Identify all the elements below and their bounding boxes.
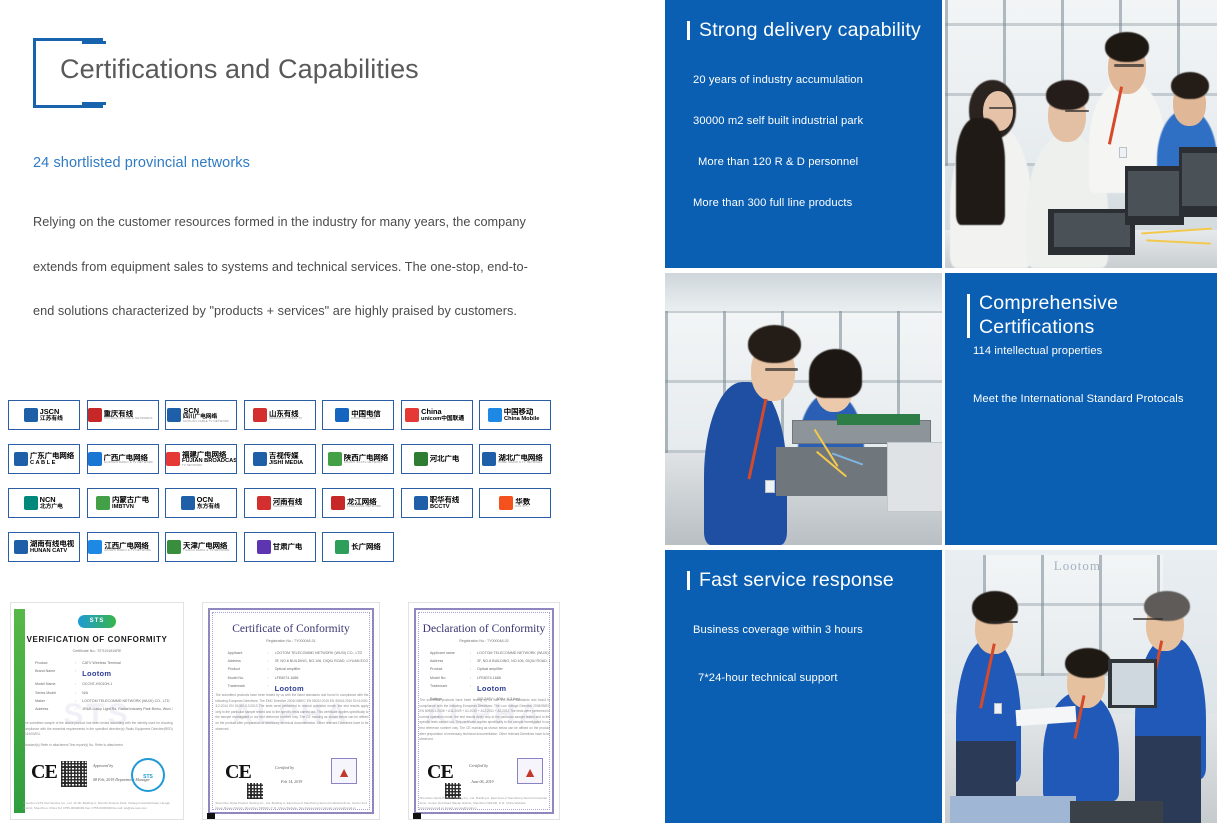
logo-subtext: JIANGXI RADIO & TV NETWORK — [104, 549, 151, 552]
left-content-column: Certifications and Capabilities 24 short… — [0, 0, 660, 823]
logo-wordmark: 职华有线BCCTV — [430, 496, 460, 510]
certificate-field-row: Brand Name:Lootom — [35, 669, 173, 678]
logo-mark-icon — [24, 496, 38, 510]
certificate-field-colon: : — [470, 651, 477, 655]
logo-subtext: HUA SHU — [515, 505, 529, 508]
certificate-field-row: Trademark:Lootom — [430, 684, 550, 693]
logo-wordmark: 长广网络 — [351, 543, 381, 550]
logo-subtext: TIANJIN RADIO & TV NETWORK — [183, 549, 230, 552]
logo-mark-icon — [167, 540, 181, 554]
person-hair — [748, 325, 801, 363]
certificate-title: Certificate of Conformity — [203, 623, 379, 635]
panel-heading: Fast service response — [687, 568, 928, 592]
logo-mark-icon — [181, 496, 195, 510]
panel-heading: Strong delivery capability — [687, 18, 928, 42]
certificate-field-value: Lootom — [275, 684, 369, 693]
logo-wordmark: 山东有线SHANDONG CABLE TV — [269, 410, 306, 421]
logo-mark-icon — [488, 408, 502, 422]
panel-bullet: More than 300 full line products — [693, 197, 926, 209]
panel-strong-delivery-capability: Strong delivery capability 20 years of i… — [665, 0, 942, 268]
logo-wordmark: 福建广电网络FUJIAN BROADCASTTV NETWORK — [182, 451, 236, 468]
logo-hebei-broadcast-tv[interactable]: 河北广电 — [401, 444, 473, 474]
certificate-registration: Registration No.: TY000048-01 — [203, 639, 379, 643]
certificate-paragraph: The submitted products have been tested … — [215, 693, 368, 732]
logo-china-mobile[interactable]: 中国移动China Mobile — [479, 400, 551, 430]
certificate-field-key: Model Name — [35, 682, 75, 686]
certificate-field-colon: : — [470, 684, 477, 693]
certificate-field-value: LFE8074-1688 — [477, 676, 550, 680]
laptop — [1048, 209, 1135, 255]
certificate-card-conformity[interactable]: ALPHA Certificate of Conformity Registra… — [202, 602, 380, 820]
certificate-field-colon: : — [268, 684, 275, 693]
logo-mark-icon — [14, 452, 28, 466]
logo-wordmark: NCN北方广电 — [40, 496, 65, 510]
certificate-field-colon: : — [268, 659, 275, 663]
certificate-field-value: 3F, NO.8 BUILDING, NO.106, DIQIU ROAD, L… — [275, 659, 369, 663]
logo-mark-icon — [96, 496, 110, 510]
certificate-field-list: Product:CATV Wireless TerminalBrand Name… — [35, 661, 173, 715]
logo-henan-cable[interactable]: 河南有线HENAN CABLE — [244, 488, 316, 518]
certificate-card-declaration[interactable]: ALPHA Declaration of Conformity Registra… — [408, 602, 560, 820]
logo-line-2: China Mobile — [504, 416, 539, 422]
panel-bullet: Business coverage within 3 hours — [693, 624, 926, 636]
logo-subtext: HENAN CABLE — [273, 505, 300, 508]
certificate-note: Standard(s) Refer to attachment Test rep… — [23, 743, 173, 749]
certificate-field-row: Address:1R&B Lucky Light Rd, Radial Indu… — [35, 707, 173, 711]
desk-tray — [1070, 801, 1162, 823]
certificate-field-key: Trademark — [228, 684, 268, 693]
logo-ncn-north-broadcast[interactable]: NCN北方广电 — [8, 488, 80, 518]
certificate-field-colon: : — [268, 667, 275, 671]
logo-mark-icon — [166, 452, 180, 466]
page-title-block: Certifications and Capabilities — [33, 38, 553, 110]
certificate-title: Declaration of Conformity — [409, 623, 559, 635]
logo-huashu-media[interactable]: 华数HUA SHU — [479, 488, 551, 518]
logo-guangxi-broadcast-network[interactable]: 广西广电网络GUANGXI RADIO & TV NETWORK — [87, 444, 159, 474]
certificate-field-colon: : — [268, 651, 275, 655]
certificate-field-colon: : — [75, 699, 82, 703]
logo-mark-icon — [331, 496, 345, 510]
logo-wordmark: 龙江网络LONGJIANG NETWORK — [347, 498, 385, 509]
logo-subtext: LONGJIANG NETWORK — [347, 505, 381, 508]
glasses-icon — [1065, 110, 1089, 112]
section-subheading: 24 shortlisted provincial networks — [33, 155, 250, 171]
certificate-field-value: Lootom — [82, 669, 173, 678]
certificate-field-colon: : — [75, 682, 82, 686]
photo-assembly-inspection — [665, 273, 942, 545]
signature-label: Certified by — [469, 763, 488, 768]
logo-mark-icon — [414, 452, 428, 466]
logo-mark-icon — [167, 408, 181, 422]
certificate-field-colon: : — [470, 667, 477, 671]
certificate-field-value: LOOTOM TELECOMMD NETWORK (WUXI) CO., LTD — [477, 651, 550, 655]
certificate-field-row: Trademark:Lootom — [228, 684, 369, 693]
certificate-field-row: Address:3F, NO.8 BUILDING, NO.106, DIQIU… — [228, 659, 369, 663]
logo-subtext: SHANDONG CABLE TV — [269, 417, 302, 420]
logo-wordmark: 内蒙古广电IMBTVN — [112, 496, 149, 510]
circuit-board — [837, 414, 920, 425]
logo-wordmark: 湖北广电网络HUBEI RADIO & TV NETWORK — [498, 454, 547, 465]
page-title: Certifications and Capabilities — [60, 54, 419, 85]
certificate-field-key: Product — [228, 667, 268, 671]
panel-bullet-list: 114 intellectual propertiesMeet the Inte… — [973, 345, 1201, 441]
logo-fujian-broadcast-tv[interactable]: 福建广电网络FUJIAN BROADCASTTV NETWORK — [165, 444, 237, 474]
logo-hubei-broadcast-network[interactable]: 湖北广电网络HUBEI RADIO & TV NETWORK — [479, 444, 551, 474]
panel-bullet: 30000 m2 self built industrial park — [693, 115, 926, 127]
certificate-field-value: CATV Wireless Terminal — [82, 661, 173, 665]
certificate-field-value: LFE8074-1688 — [275, 676, 369, 680]
logo-wordmark: 中国电信CHINA TELECOM — [351, 410, 381, 421]
logo-mark-icon — [88, 540, 102, 554]
signature-label: Approved by — [93, 763, 113, 768]
logo-ocn-oriental-cable[interactable]: OCN东方有线 — [165, 488, 237, 518]
logo-wordmark: 广西广电网络GUANGXI RADIO & TV NETWORK — [104, 454, 158, 465]
logo-wordmark: 河南有线HENAN CABLE — [273, 498, 303, 509]
logo-hunan-catv[interactable]: 湖南有线电视HUNAN CATV — [8, 532, 80, 562]
certificate-field-row: Product:Optical amplifier — [228, 667, 369, 671]
section-paragraph: Relying on the customer resources formed… — [33, 200, 533, 334]
logo-line-2: C A B L E — [30, 460, 71, 466]
logo-wordmark: Chinaunicom中国联通 — [421, 408, 468, 422]
certificate-footer: Shenzhen Alpha Product Testing Co., Ltd.… — [215, 801, 368, 811]
logo-mark-icon — [335, 408, 349, 422]
logo-wordmark: 中国移动China Mobile — [504, 408, 543, 422]
logo-mark-icon — [328, 452, 342, 466]
certificate-field-colon: : — [470, 659, 477, 663]
logo-guangdong-cable[interactable]: 广东广电网络C A B L E — [8, 444, 80, 474]
certificate-field-value: LOOTOM TELECOMMD NETWORK (WUXI) CO., LTD — [82, 699, 173, 703]
certificate-footer: Shenzhen Alpha Product Testing Co., Ltd.… — [420, 796, 551, 811]
certificate-field-key: Address — [35, 707, 75, 711]
certificate-field-value: 3F, NO.8 BUILDING, NO.106, DIQIU ROAD, L… — [477, 659, 550, 663]
person-hair — [1065, 648, 1111, 678]
logo-line-2: unicom中国联通 — [421, 416, 464, 422]
logo-longjiang-network[interactable]: 龙江网络LONGJIANG NETWORK — [322, 488, 394, 518]
certificate-field-key: Address — [430, 659, 470, 663]
certificate-field-key: Model No. — [228, 676, 268, 680]
qr-code — [61, 761, 87, 787]
certificate-seal: ▲ — [517, 758, 543, 784]
logo-wordmark: 江西广电网络JIANGXI RADIO & TV NETWORK — [104, 542, 156, 553]
laptop — [1125, 166, 1185, 225]
certificate-paragraph: The submitted products have been testing… — [420, 698, 551, 743]
logo-mark-icon — [499, 496, 513, 510]
logo-mark-icon — [257, 540, 271, 554]
certificate-field-value: 1R&B Lucky Light Rd, Radial Industry Par… — [82, 707, 173, 711]
person-hair — [1046, 80, 1090, 109]
certificate-field-value: Optical amplifier — [477, 667, 550, 671]
certificate-field-key: Trademark — [430, 684, 470, 693]
certificate-field-row: Series Model:N/A — [35, 691, 173, 695]
logo-mark-icon — [335, 540, 349, 554]
certificate-field-row: Model No.:LFE8074-1688 — [228, 676, 369, 680]
certificate-field-value: N/A — [82, 691, 173, 695]
logo-wordmark: 华数HUA SHU — [515, 498, 530, 509]
glasses-icon — [765, 368, 798, 371]
logo-mark-icon — [482, 452, 496, 466]
logo-mark-icon — [253, 408, 267, 422]
certificate-field-value: Optical amplifier — [275, 667, 369, 671]
photo-team-discussion-office: Lootom — [945, 550, 1217, 823]
certificate-field-row: Product:CATV Wireless Terminal — [35, 661, 173, 665]
person-hair — [1105, 32, 1149, 61]
certificate-field-key: Model No. — [430, 676, 470, 680]
certificate-field-value: OCCNT-H2010H-1 — [82, 682, 173, 686]
certificate-registration: Certificate No.: STS191816RE — [11, 649, 183, 653]
laptop — [1179, 147, 1217, 217]
panel-heading: Comprehensive Certifications — [967, 291, 1203, 340]
logo-changguang-network[interactable]: 长广网络 — [322, 532, 394, 562]
panel-fast-service-response: Fast service response Business coverage … — [665, 550, 942, 823]
equipment-case — [887, 442, 942, 513]
logo-subtext: SICHUAN CABLE TV NETWORK — [183, 420, 229, 423]
logo-line-2: 北方广电 — [40, 504, 63, 510]
glasses-icon — [989, 107, 1013, 109]
page-corner-tab — [207, 813, 215, 820]
panel-comprehensive-certifications: Comprehensive Certifications 114 intelle… — [945, 273, 1217, 545]
panel-bullet-list: 20 years of industry accumulation30000 m… — [693, 74, 926, 238]
panel-bullet: 7*24-hour technical support — [698, 672, 926, 684]
ceiling-lights — [665, 273, 942, 317]
logo-mark-icon — [14, 540, 28, 554]
panel-bullet: More than 120 R & D personnel — [698, 156, 926, 168]
id-badge — [994, 703, 1002, 714]
signature-date: Feb 14, 2019 — [281, 779, 302, 784]
logo-gansu-broadcast-tv[interactable]: 甘肃广电 — [244, 532, 316, 562]
page-corner-tab — [413, 813, 421, 820]
logo-line-2: IMBTVN — [112, 504, 146, 510]
logo-mark-icon — [24, 408, 38, 422]
logo-mark-icon — [88, 452, 102, 466]
certificate-title: VERIFICATION OF CONFORMITY — [11, 635, 183, 644]
stacked-folders — [950, 796, 1075, 823]
certificate-field-row: Model No.:LFE8074-1688 — [430, 676, 550, 680]
logo-scn-sichuan-broadcast[interactable]: SCN四川广电网络SICHUAN CABLE TV NETWORK — [165, 400, 237, 430]
certificate-seal: STS — [131, 758, 165, 792]
logo-wordmark: SCN四川广电网络SICHUAN CABLE TV NETWORK — [183, 407, 234, 424]
certificate-seal: ▲ — [331, 758, 357, 784]
certificate-field-key: Applicant name — [430, 651, 470, 655]
logo-jiangxi-broadcast-network[interactable]: 江西广电网络JIANGXI RADIO & TV NETWORK — [87, 532, 159, 562]
logo-bccetv-juhua-cable[interactable]: 职华有线BCCTV — [401, 488, 473, 518]
certificate-field-row: Applicant name:LOOTOM TELECOMMD NETWORK … — [430, 651, 550, 655]
right-feature-grid: Strong delivery capability 20 years of i… — [665, 0, 1217, 823]
signature-label: Certified by — [275, 765, 294, 770]
certificate-gallery: Certificate · 认证证书 · Certificado · Серти… — [10, 602, 570, 820]
logo-subtext: CHINA TELECOM — [351, 417, 378, 420]
sts-logo: STS — [78, 615, 116, 628]
photo-surface — [945, 0, 1217, 268]
ce-mark: CE — [427, 761, 453, 784]
certificate-field-key: Brand Name — [35, 669, 75, 678]
person-hair — [1171, 72, 1209, 99]
logo-line-1: 长广网络 — [351, 543, 381, 550]
certificate-field-colon: : — [75, 661, 82, 665]
certificate-field-key: Applicant — [228, 651, 268, 655]
glasses-icon — [989, 621, 1019, 623]
certificate-footer: Shenzhen STS Test Service Co., Ltd. 1F-3… — [23, 801, 173, 811]
person-hair — [809, 349, 862, 398]
photo-surface — [665, 273, 942, 545]
logo-subtext: SHANXI SCATV NETWORK — [344, 461, 384, 464]
logo-line-1: 甘肃广电 — [273, 543, 303, 550]
signature-date: June 06, 2019 — [471, 779, 494, 784]
person-figure — [704, 382, 787, 545]
logo-jishi-media[interactable]: 吉视传媒JISHI MEDIA — [244, 444, 316, 474]
certificate-field-row: Address:3F, NO.8 BUILDING, NO.106, DIQIU… — [430, 659, 550, 663]
certificate-field-row: Applicant:LOOTOM TELECOMMD NETWORK (WUXI… — [228, 651, 369, 655]
logo-wordmark: OCN东方有线 — [197, 496, 222, 510]
logo-wordmark: 天津广电网络TIANJIN RADIO & TV NETWORK — [183, 542, 235, 553]
certificate-field-key: Product — [430, 667, 470, 671]
logo-line-2: 江苏有线 — [40, 416, 63, 422]
id-badge — [765, 480, 775, 493]
certificate-field-row: Model Name:OCCNT-H2010H-1 — [35, 682, 173, 686]
certificate-field-value: LOOTOM TELECOMMD NETWORK (WUXI) CO., LTD — [275, 651, 369, 655]
certificate-field-key: Maker — [35, 699, 75, 703]
photo-engineers-at-laptops — [945, 0, 1217, 268]
photo-surface: Lootom — [945, 550, 1217, 823]
logo-mark-icon — [88, 408, 102, 422]
glasses-icon — [1114, 64, 1144, 67]
logo-mark-icon — [253, 452, 267, 466]
certificate-card-sts[interactable]: Certificate · 认证证书 · Certificado · Серти… — [10, 602, 184, 820]
certificate-field-list: Applicant name:LOOTOM TELECOMMD NETWORK … — [430, 651, 550, 705]
logo-jsnc-jiangsu-cable[interactable]: JSCN江苏有线 — [8, 400, 80, 430]
partner-logo-grid: JSCN江苏有线重庆有线CHONGQING CABLE NETWORKSSCN四… — [8, 400, 568, 562]
logo-wordmark: 甘肃广电 — [273, 543, 303, 550]
certificate-field-list: Applicant:LOOTOM TELECOMMD NETWORK (WUXI… — [228, 651, 369, 697]
glasses-icon — [1133, 618, 1163, 620]
panel-bullet: 114 intellectual properties — [973, 345, 1201, 357]
logo-subtext: HUBEI RADIO & TV NETWORK — [498, 461, 542, 464]
certificate-registration: Registration No.: TY000048-02 — [409, 639, 559, 643]
logo-china-telecom[interactable]: 中国电信CHINA TELECOM — [322, 400, 394, 430]
certificate-field-colon: : — [75, 669, 82, 678]
certificate-field-colon: : — [75, 707, 82, 711]
logo-shandong-cable[interactable]: 山东有线SHANDONG CABLE TV — [244, 400, 316, 430]
logo-mark-icon — [257, 496, 271, 510]
logo-subtext: TV NETWORK — [182, 464, 231, 467]
logo-imbtvn-inner-mongolia[interactable]: 内蒙古广电IMBTVN — [87, 488, 159, 518]
logo-line-2: 东方有线 — [197, 504, 220, 510]
logo-wordmark: 陕西广电网络SHANXI SCATV NETWORK — [344, 454, 388, 465]
logo-tianjin-broadcast-network[interactable]: 天津广电网络TIANJIN RADIO & TV NETWORK — [165, 532, 237, 562]
certificate-paragraph: The submitted sample of the above produc… — [23, 721, 173, 738]
person-hair — [972, 591, 1018, 624]
logo-subtext: CHONGQING CABLE NETWORKS — [104, 417, 153, 420]
certificate-field-colon: : — [75, 691, 82, 695]
monitor — [1108, 659, 1157, 708]
logo-line-2: BCCTV — [430, 504, 457, 510]
certificate-field-key: Product — [35, 661, 75, 665]
certificate-field-key: Address — [228, 659, 268, 663]
qr-code — [247, 783, 263, 799]
logo-wordmark: 重庆有线CHONGQING CABLE NETWORKS — [104, 410, 158, 421]
logo-wordmark: 吉视传媒JISHI MEDIA — [269, 452, 306, 466]
logo-mark-icon — [405, 408, 419, 422]
certificate-field-key: Series Model — [35, 691, 75, 695]
panel-bullet: Meet the International Standard Protocal… — [973, 393, 1201, 405]
logo-wordmark: JSCN江苏有线 — [40, 408, 65, 422]
logo-line-2: HUNAN CATV — [30, 548, 71, 554]
logo-wordmark: 湖南有线电视HUNAN CATV — [30, 540, 74, 554]
panel-bullet-list: Business coverage within 3 hours7*24-hou… — [693, 624, 926, 720]
id-badge — [1119, 147, 1127, 158]
person-hair-long — [956, 118, 1005, 225]
logo-china-unicom[interactable]: Chinaunicom中国联通 — [401, 400, 473, 430]
ce-mark: CE — [225, 761, 251, 784]
logo-line-1: 河北广电 — [430, 455, 460, 462]
certificate-field-colon: : — [268, 676, 275, 680]
logo-wordmark: 河北广电 — [430, 455, 460, 462]
certificate-field-row: Product:Optical amplifier — [430, 667, 550, 671]
window-signage: Lootom — [1054, 558, 1101, 574]
certificate-field-value: Lootom — [477, 684, 550, 693]
logo-subtext: GUANGXI RADIO & TV NETWORK — [104, 461, 153, 464]
logo-chongqing-cable[interactable]: 重庆有线CHONGQING CABLE NETWORKS — [87, 400, 159, 430]
ce-mark: CE — [31, 761, 57, 784]
logo-wordmark: 广东广电网络C A B L E — [30, 452, 74, 466]
logo-line-2: JISHI MEDIA — [269, 460, 303, 466]
certificate-field-colon: : — [470, 676, 477, 680]
certificate-field-row: Maker:LOOTOM TELECOMMD NETWORK (WUXI) CO… — [35, 699, 173, 703]
logo-mark-icon — [414, 496, 428, 510]
logo-shaanxi-broadcast-network[interactable]: 陕西广电网络SHANXI SCATV NETWORK — [322, 444, 394, 474]
panel-bullet: 20 years of industry accumulation — [693, 74, 926, 86]
person-hair — [1144, 591, 1190, 621]
